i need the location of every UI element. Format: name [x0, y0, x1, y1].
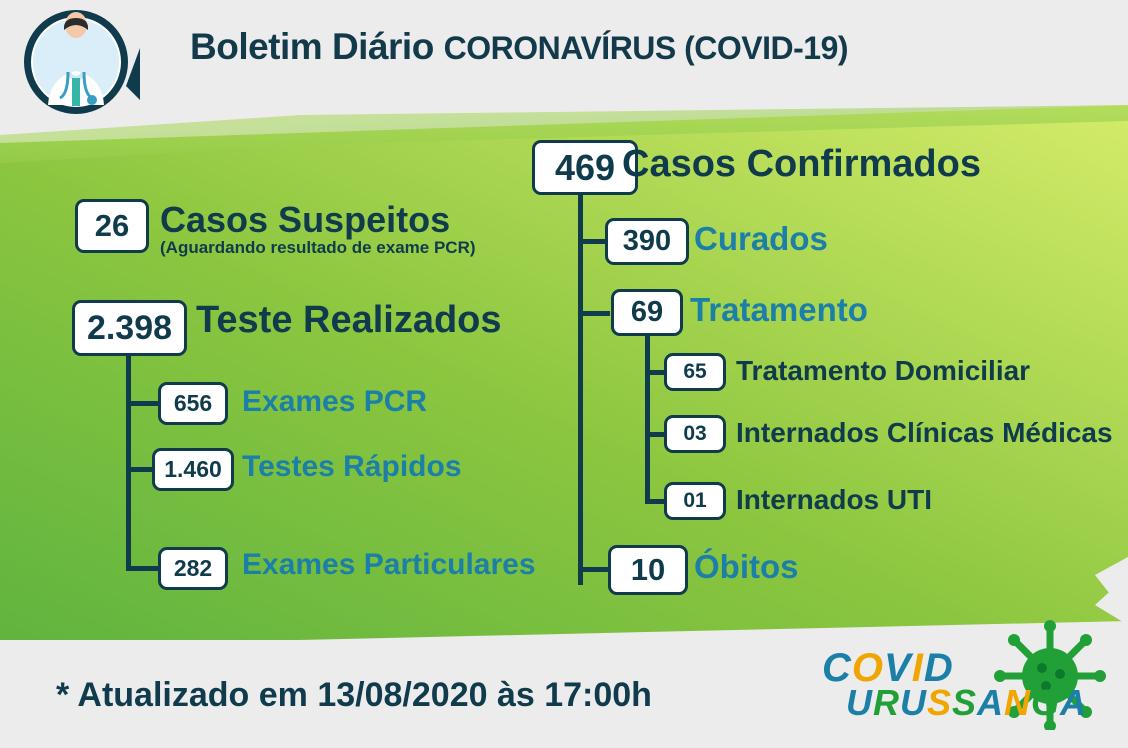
tests-item-2-value-box: 282	[158, 547, 228, 590]
treatment-item-2-value: 01	[683, 489, 706, 513]
treatment-item-1-value-box: 03	[664, 415, 726, 453]
confirmed-branch-deaths	[578, 567, 610, 572]
suspected-value-box: 26	[75, 199, 149, 253]
confirmed-trunk-line	[578, 195, 583, 585]
deaths-value-box: 10	[608, 545, 688, 595]
logo-urussanga-text: URUSSANGA	[846, 682, 1087, 724]
suspected-value: 26	[95, 208, 129, 244]
treatment-trunk-line	[645, 336, 650, 504]
tests-item-1-value: 1.460	[164, 456, 222, 483]
report-content: 26 Casos Suspeitos (Aguardando resultado…	[0, 105, 1128, 645]
tests-branch-line-3	[126, 566, 162, 571]
tests-label: Teste Realizados	[196, 299, 502, 342]
page-title-rest: CORONAVÍRUS (COVID-19)	[444, 30, 848, 66]
confirmed-branch-treatment	[578, 311, 610, 316]
tests-branch-line-1	[126, 401, 162, 406]
treatment-item-1-label: Internados Clínicas Médicas	[736, 417, 1113, 449]
cured-value-box: 390	[605, 218, 689, 265]
treatment-item-0-value-box: 65	[664, 353, 726, 391]
page-title: Boletim Diário CORONAVÍRUS (COVID-19)	[190, 26, 848, 68]
tests-value-box: 2.398	[72, 300, 187, 356]
tests-item-2-value: 282	[174, 555, 212, 582]
page-title-main: Boletim Diário	[190, 26, 434, 67]
treatment-item-0-label: Tratamento Domiciliar	[736, 355, 1030, 387]
treatment-item-2-value-box: 01	[664, 482, 726, 520]
tests-item-1-label: Testes Rápidos	[242, 450, 462, 484]
tests-item-0-label: Exames PCR	[242, 385, 427, 419]
tests-trunk-line	[126, 356, 131, 571]
suspected-label: Casos Suspeitos	[160, 199, 450, 241]
tests-value: 2.398	[87, 309, 172, 348]
updated-text: * Atualizado em 13/08/2020 às 17:00h	[56, 676, 652, 715]
treatment-label: Tratamento	[690, 291, 868, 329]
confirmed-label: Casos Confirmados	[622, 143, 981, 186]
tests-item-0-value-box: 656	[158, 382, 228, 425]
tests-item-2-label: Exames Particulares	[242, 548, 536, 582]
header: Boletim Diário CORONAVÍRUS (COVID-19)	[0, 0, 1128, 120]
doctor-avatar	[18, 8, 148, 116]
deaths-value: 10	[631, 552, 665, 588]
tests-item-1-value-box: 1.460	[152, 448, 234, 491]
treatment-item-1-value: 03	[683, 422, 706, 446]
tests-item-0-value: 656	[174, 390, 212, 417]
deaths-label: Óbitos	[694, 548, 799, 586]
doctor-avatar-icon	[18, 8, 148, 116]
treatment-value-box: 69	[611, 289, 683, 336]
treatment-value: 69	[631, 296, 663, 329]
confirmed-value: 469	[555, 147, 615, 189]
cured-value: 390	[623, 225, 671, 258]
cured-label: Curados	[694, 220, 828, 258]
treatment-item-2-label: Internados UTI	[736, 484, 932, 516]
suspected-sublabel: (Aguardando resultado de exame PCR)	[160, 238, 476, 258]
covid-urussanga-logo: COVID URUSSANGA	[810, 624, 1110, 744]
treatment-item-0-value: 65	[683, 360, 706, 384]
